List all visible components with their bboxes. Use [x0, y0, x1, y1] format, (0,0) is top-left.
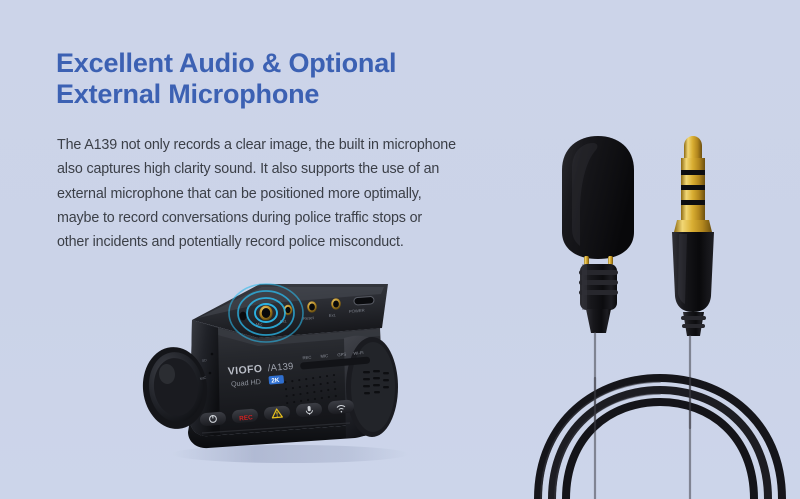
dashcam-product-image: SD MIC Mic Ext. Reset E — [140, 276, 430, 466]
mic-port-hole — [262, 308, 271, 318]
feature-panel: Excellent Audio & Optional External Micr… — [0, 0, 800, 499]
microphone-cables — [538, 333, 782, 499]
resolution-badge: 2K — [271, 377, 280, 385]
audio-plug — [672, 136, 714, 336]
description-line-3: external microphone that can be position… — [57, 182, 557, 206]
led-gps-label: GPS — [337, 352, 346, 358]
ext-mic-port-hole — [285, 307, 290, 313]
microphone-pin-right — [608, 256, 613, 265]
lavalier-microphone-head — [562, 136, 634, 333]
plug-tip — [684, 136, 702, 158]
led-rec-label: REC — [302, 355, 311, 361]
cable-coil-1 — [538, 378, 782, 499]
reset-port-hole — [309, 304, 315, 311]
led-wifi-label: WI-FI — [353, 350, 364, 356]
rec-icon: REC — [239, 414, 253, 422]
aux-port-label: Ext. — [329, 312, 337, 318]
dashcam-side-pinhole-1 — [211, 353, 214, 356]
microphone-pin-left — [584, 256, 589, 265]
power-port — [354, 296, 374, 305]
model-name: /A139 — [267, 361, 294, 374]
plug-barrel — [672, 232, 714, 312]
plug-flange — [674, 220, 712, 232]
microphone-collar — [579, 264, 618, 310]
description-line-2: also captures high clarity sound. It als… — [57, 157, 557, 181]
plug-ring-3 — [681, 200, 705, 205]
external-microphone-image — [520, 128, 800, 499]
description-line-1: The A139 not only records a clear image,… — [57, 133, 557, 157]
aux-port-hole — [333, 301, 339, 308]
description-paragraph: The A139 not only records a clear image,… — [57, 133, 557, 254]
reset-port-label: Reset — [303, 315, 315, 321]
dashcam-side-pinhole-2 — [209, 372, 212, 375]
dashcam-pinhole — [240, 312, 247, 321]
page-title-line-2: External Microphone — [56, 79, 576, 110]
page-title: Excellent Audio & Optional External Micr… — [56, 48, 576, 110]
led-mic-label: MIC — [320, 353, 328, 359]
description-line-5: other incidents and potentially record p… — [57, 230, 557, 254]
description-line-4: maybe to record conversations during pol… — [57, 206, 557, 230]
plug-ring-1 — [681, 170, 705, 175]
plug-ring-2 — [681, 185, 705, 190]
page-title-line-1: Excellent Audio & Optional — [56, 48, 576, 79]
